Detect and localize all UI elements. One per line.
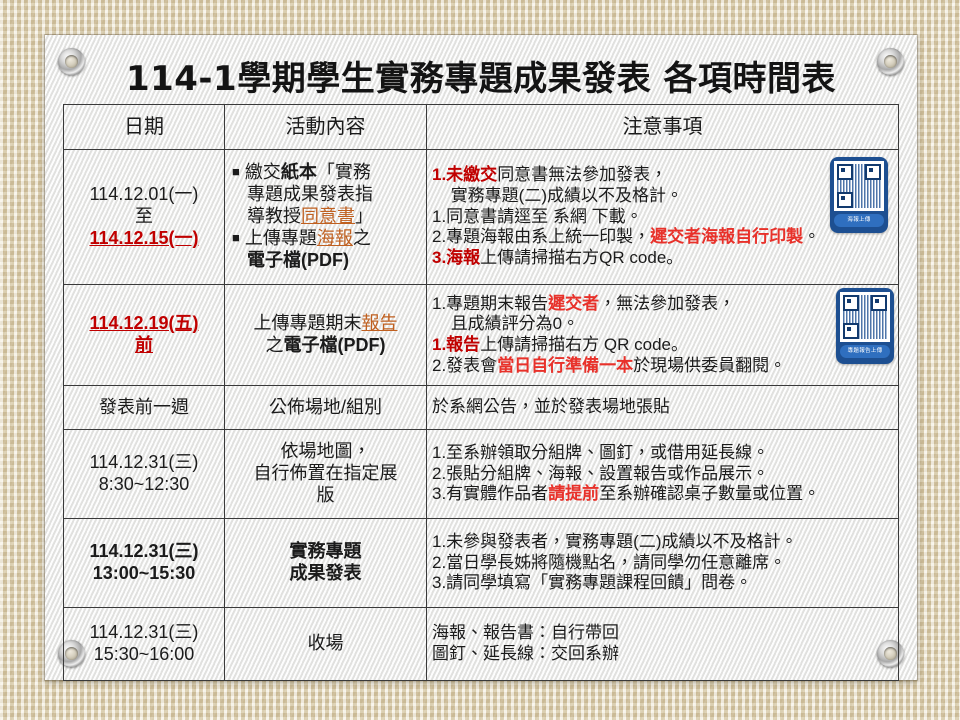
qr-finder-icon — [865, 164, 881, 180]
cell-activity: 實務專題 成果發表 — [225, 519, 427, 608]
qr-code-poster-upload[interactable]: 海報上傳 — [830, 157, 888, 233]
qr-finder-icon — [837, 192, 853, 208]
page-title: 114-1學期學生實務專題成果發表 各項時間表 — [45, 51, 917, 100]
activity-line: 版 — [230, 485, 421, 507]
note-line: 1.同意書請逕至 系網 下載。 — [432, 207, 893, 228]
cell-date: 發表前一週 — [64, 386, 225, 430]
date-line: 15:30~16:00 — [69, 644, 219, 666]
qr-finder-icon — [843, 323, 859, 339]
table-row: 114.12.31(三) 15:30~16:00 收場 海報、報告書：自行帶回 … — [64, 608, 899, 681]
note-line: 2.發表會當日自行準備一本於現場供委員翻閱。 — [432, 356, 893, 377]
qr-finder-icon — [871, 295, 887, 311]
cell-activity: 依場地圖， 自行佈置在指定展 版 — [225, 430, 427, 519]
note-line: 1.未參與發表者，實務專題(二)成績以不及格計。 — [432, 532, 893, 553]
activity-line: 依場地圖， — [230, 441, 421, 463]
qr-code-label: 專題報告上傳 — [840, 345, 890, 358]
note-line: 1.報告上傳請掃描右方 QR code。 — [432, 335, 893, 356]
column-header-activity: 活動內容 — [225, 105, 427, 150]
activity-line: 自行佈置在指定展 — [230, 463, 421, 485]
date-line: 114.12.01(一) — [69, 184, 219, 206]
note-line: 2.當日學長姊將隨機點名，請同學勿任意離席。 — [432, 553, 893, 574]
qr-code-image — [834, 161, 884, 211]
note-line: 1.未繳交同意書無法參加發表， — [432, 165, 893, 186]
cell-date: 114.12.31(三) 8:30~12:30 — [64, 430, 225, 519]
cell-notes: 1.未參與發表者，實務專題(二)成績以不及格計。 2.當日學長姊將隨機點名，請同… — [427, 519, 899, 608]
qr-code-report-upload[interactable]: 專題報告上傳 — [836, 288, 894, 364]
cell-date: 114.12.31(三) 15:30~16:00 — [64, 608, 225, 681]
note-line: 2.張貼分組牌、海報、設置報告或作品展示。 — [432, 464, 893, 485]
table-row: 發表前一週 公佈場地/組別 於系網公告，並於發表場地張貼 — [64, 386, 899, 430]
activity-line: 實務專題 — [230, 541, 421, 563]
poster-board: 114-1學期學生實務專題成果發表 各項時間表 日期 活動內容 注意事項 114… — [45, 35, 917, 680]
cell-notes: 1.至系辦領取分組牌、圖釘，或借用延長線。 2.張貼分組牌、海報、設置報告或作品… — [427, 430, 899, 519]
cell-notes: 1.專題期末報告遲交者，無法參加發表， 且成績評分為0。 1.報告上傳請掃描右方… — [427, 285, 899, 386]
note-line: 圖釘、延長線：交回系辦 — [432, 644, 893, 665]
note-line: 3.有實體作品者請提前至系辦確認桌子數量或位置。 — [432, 484, 893, 505]
activity-line: 專題成果發表指 — [230, 184, 421, 206]
note-line: 1.專題期末報告遲交者，無法參加發表， — [432, 294, 893, 315]
table-row: 114.12.01(一) 至 114.12.15(一) ■ 繳交紙本「實務 專題… — [64, 150, 899, 285]
cell-notes: 1.未繳交同意書無法參加發表， 實務專題(二)成績以不及格計。 1.同意書請逕至… — [427, 150, 899, 285]
cell-notes: 海報、報告書：自行帶回 圖釘、延長線：交回系辦 — [427, 608, 899, 681]
note-line: 且成績評分為0。 — [432, 314, 893, 335]
cell-activity: 收場 — [225, 608, 427, 681]
activity-line: 成果發表 — [230, 563, 421, 585]
activity-line: 導教授同意書」 — [230, 206, 421, 228]
date-line: 114.12.31(三) — [69, 452, 219, 474]
table-row: 114.12.19(五) 前 上傳專題期末報告 之電子檔(PDF) 1.專題期末… — [64, 285, 899, 386]
column-header-notes: 注意事項 — [427, 105, 899, 150]
note-line: 海報、報告書：自行帶回 — [432, 623, 893, 644]
qr-finder-icon — [837, 164, 853, 180]
activity-line: 上傳專題期末報告 — [230, 313, 421, 335]
cell-activity: ■ 繳交紙本「實務 專題成果發表指 導教授同意書」 ■ 上傳專題海報之 電子檔(… — [225, 150, 427, 285]
date-line: 13:00~15:30 — [69, 563, 219, 585]
schedule-table: 日期 活動內容 注意事項 114.12.01(一) 至 114.12.15(一)… — [63, 104, 899, 681]
qr-code-label: 海報上傳 — [834, 214, 884, 227]
activity-line: ■ 上傳專題海報之 — [230, 228, 421, 250]
note-line: 2.專題海報由系上統一印製，遲交者海報自行印製。 — [432, 227, 893, 248]
date-line: 114.12.31(三) — [69, 622, 219, 644]
activity-line: 之電子檔(PDF) — [230, 335, 421, 357]
cell-notes: 於系網公告，並於發表場地張貼 — [427, 386, 899, 430]
qr-finder-icon — [843, 295, 859, 311]
note-line: 3.請同學填寫「實務專題課程回饋」問卷。 — [432, 573, 893, 594]
date-line: 114.12.31(三) — [69, 541, 219, 563]
date-line-deadline: 前 — [69, 335, 219, 357]
note-line: 實務專題(二)成績以不及格計。 — [432, 186, 893, 207]
table-header-row: 日期 活動內容 注意事項 — [64, 105, 899, 150]
table-row: 114.12.31(三) 13:00~15:30 實務專題 成果發表 1.未參與… — [64, 519, 899, 608]
column-header-date: 日期 — [64, 105, 225, 150]
cell-date: 114.12.31(三) 13:00~15:30 — [64, 519, 225, 608]
cell-activity: 上傳專題期末報告 之電子檔(PDF) — [225, 285, 427, 386]
table-row: 114.12.31(三) 8:30~12:30 依場地圖， 自行佈置在指定展 版… — [64, 430, 899, 519]
note-line: 1.至系辦領取分組牌、圖釘，或借用延長線。 — [432, 443, 893, 464]
date-line-deadline: 114.12.15(一) — [69, 228, 219, 250]
activity-line: ■ 繳交紙本「實務 — [230, 162, 421, 184]
cell-date: 114.12.19(五) 前 — [64, 285, 225, 386]
qr-code-image — [840, 292, 890, 342]
date-line: 至 — [69, 206, 219, 228]
date-line: 8:30~12:30 — [69, 474, 219, 496]
cell-date: 114.12.01(一) 至 114.12.15(一) — [64, 150, 225, 285]
cell-activity: 公佈場地/組別 — [225, 386, 427, 430]
note-line: 3.海報上傳請掃描右方QR code。 — [432, 248, 893, 269]
activity-line: 電子檔(PDF) — [230, 250, 421, 272]
date-line-deadline: 114.12.19(五) — [69, 313, 219, 335]
